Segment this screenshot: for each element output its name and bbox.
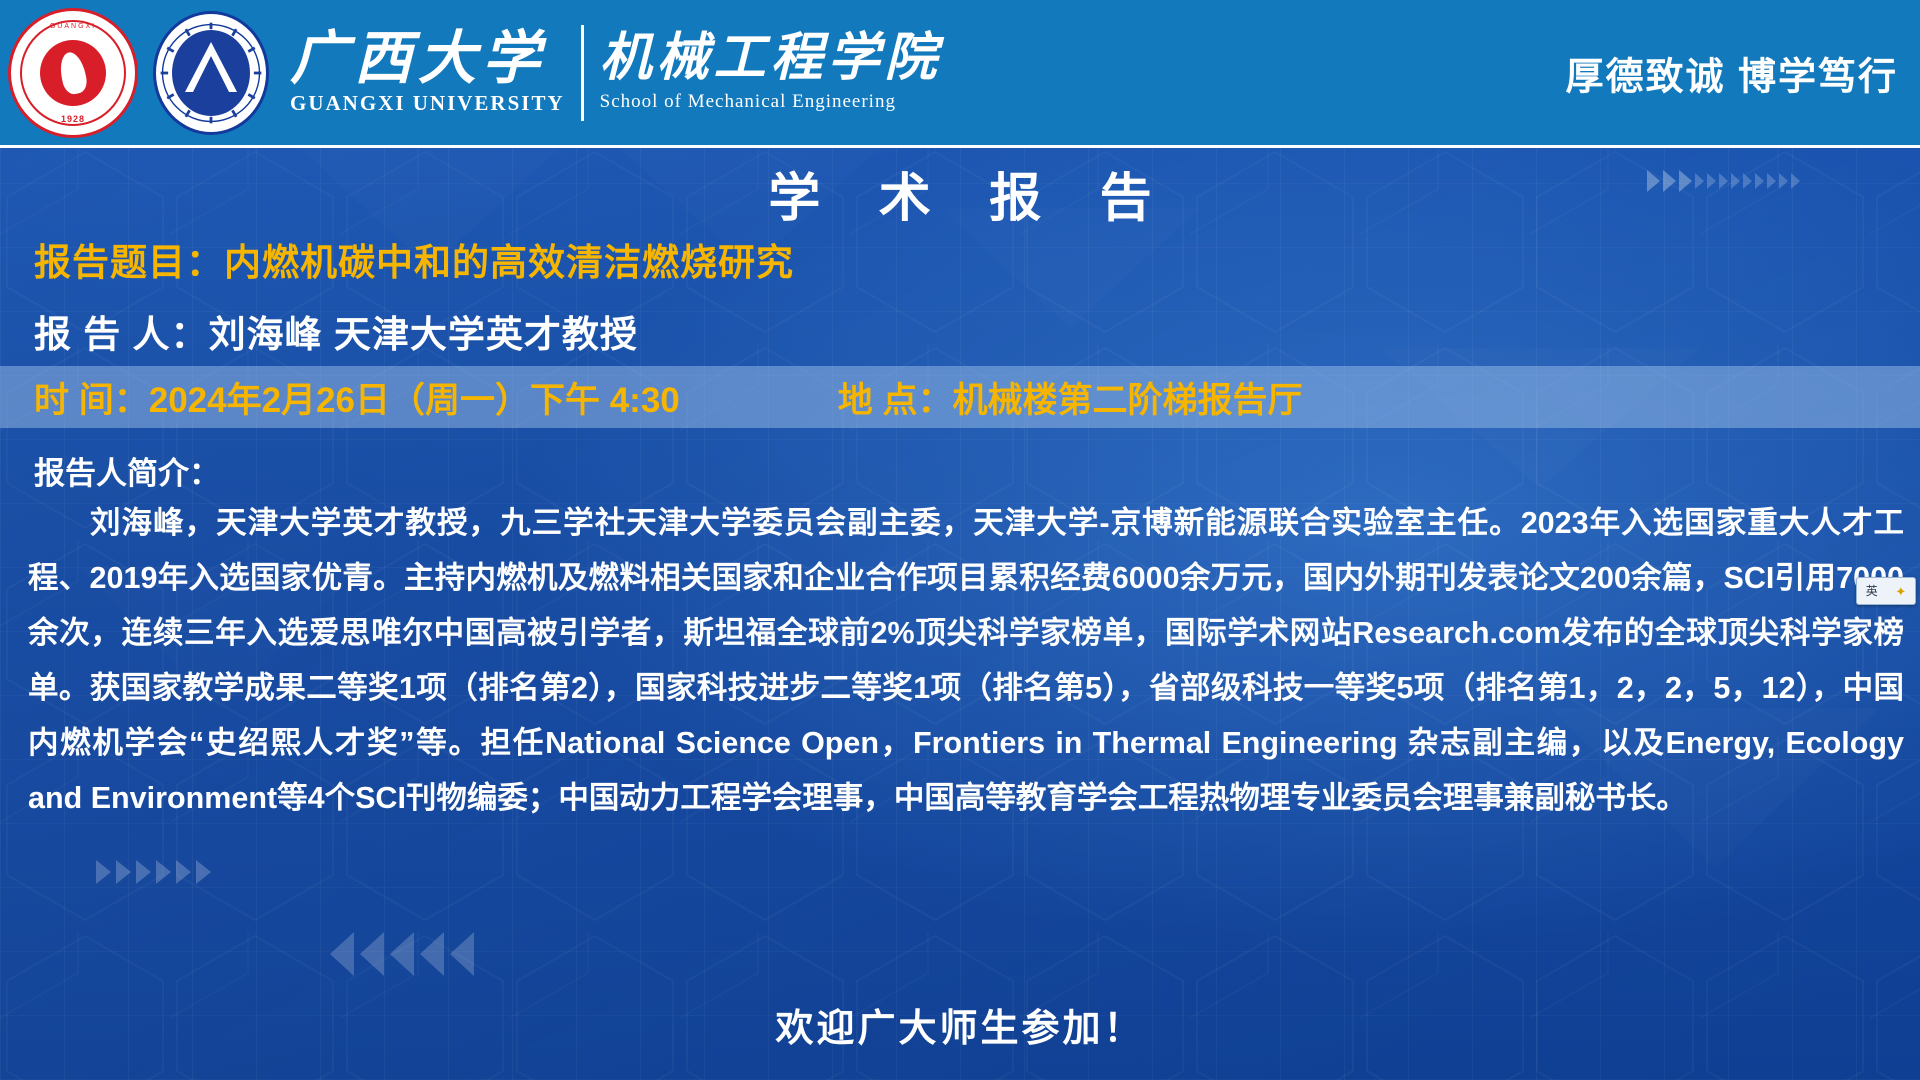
time-value: 2024年2月26日（周一）下午 4:30 <box>149 381 680 420</box>
chevron-right-icon <box>1695 173 1704 189</box>
poster-body: 学 术 报 告 报告题目：内燃机碳中和的高效清洁燃烧研究 报 告 人：刘海峰 天… <box>0 148 1920 1080</box>
arrow-right-icon <box>156 860 171 884</box>
arrow-left-icon <box>450 932 474 976</box>
chevron-right-icon <box>1719 173 1728 189</box>
university-name-cn: 广西大学 <box>290 29 565 90</box>
school-name-en: School of Mechanical Engineering <box>600 91 942 113</box>
wordmark: 广西大学 GUANGXI UNIVERSITY 机械工程学院 School of… <box>290 25 942 121</box>
arrow-right-icon <box>176 860 191 884</box>
chevron-right-icon <box>1755 173 1764 189</box>
chevron-right-icon <box>1679 170 1692 192</box>
lecture-place-row: 地 点：机械楼第二阶梯报告厅 <box>838 372 1303 423</box>
chevron-right-icon <box>1791 173 1800 189</box>
time-place-band: 时 间：2024年2月26日（周一）下午 4:30 地 点：机械楼第二阶梯报告厅 <box>0 366 1920 428</box>
arrow-right-icon <box>116 860 131 884</box>
chevron-right-icon <box>1767 173 1776 189</box>
header-banner: GUANGXI 1928 <box>0 0 1920 148</box>
arrow-left-icon <box>390 932 414 976</box>
guangxi-university-seal-icon: GUANGXI 1928 <box>8 8 138 138</box>
university-motto: 厚德致诚 博学笃行 <box>1565 45 1898 100</box>
school-emblem-icon <box>152 10 270 136</box>
arrow-decoration-left <box>330 932 474 976</box>
chevron-right-icon <box>1647 170 1660 192</box>
page-title: 学 术 报 告 <box>0 156 1920 231</box>
arrow-left-icon <box>330 932 354 976</box>
chevron-right-icon <box>1731 173 1740 189</box>
lecture-topic-row: 报告题目：内燃机碳中和的高效清洁燃烧研究 <box>34 232 794 286</box>
arrow-left-icon <box>360 932 384 976</box>
bio-paragraph: 刘海峰，天津大学英才教授，九三学社天津大学委员会副主委，天津大学-京博新能源联合… <box>28 496 1904 826</box>
bio-heading: 报告人简介： <box>34 448 220 493</box>
lecture-speaker-row: 报 告 人：刘海峰 天津大学英才教授 <box>34 304 638 358</box>
seal-top-text: GUANGXI <box>11 23 135 30</box>
place-value: 机械楼第二阶梯报告厅 <box>953 381 1303 420</box>
seal-year-text: 1928 <box>11 114 135 124</box>
welcome-message: 欢迎广大师生参加！ <box>0 997 1920 1052</box>
wordmark-divider <box>581 25 584 121</box>
school-name-cn: 机械工程学院 <box>600 32 942 87</box>
ime-mode-label[interactable]: 英 <box>1866 585 1878 597</box>
lecture-time-row: 时 间：2024年2月26日（周一）下午 4:30 <box>34 372 680 423</box>
chevron-right-icon <box>1663 170 1676 192</box>
banner-logo-group: GUANGXI 1928 <box>0 8 942 138</box>
speaker-label: 报 告 人： <box>34 314 209 355</box>
chevron-right-icon <box>1707 173 1716 189</box>
university-name-en: GUANGXI UNIVERSITY <box>290 91 565 116</box>
time-label: 时 间： <box>34 381 149 420</box>
ime-dot-icon[interactable]: ✦ <box>1895 585 1906 598</box>
ime-language-bar[interactable]: 英 ✦ <box>1856 577 1916 605</box>
place-label: 地 点： <box>838 381 953 420</box>
arrow-right-icon <box>96 860 111 884</box>
chevron-right-icon <box>1779 173 1788 189</box>
arrow-left-icon <box>420 932 444 976</box>
chevron-decoration <box>1647 170 1800 192</box>
seal-flame-icon <box>40 40 106 106</box>
topic-value: 内燃机碳中和的高效清洁燃烧研究 <box>224 242 794 283</box>
speaker-value: 刘海峰 天津大学英才教授 <box>209 314 638 355</box>
chevron-right-icon <box>1743 173 1752 189</box>
academic-lecture-poster: GUANGXI 1928 <box>0 0 1920 1080</box>
arrow-right-icon <box>196 860 211 884</box>
arrow-decoration-right <box>96 860 211 884</box>
topic-label: 报告题目： <box>34 242 224 283</box>
university-wordmark: 广西大学 GUANGXI UNIVERSITY <box>290 29 565 117</box>
arrow-right-icon <box>136 860 151 884</box>
school-wordmark: 机械工程学院 School of Mechanical Engineering <box>600 32 942 113</box>
